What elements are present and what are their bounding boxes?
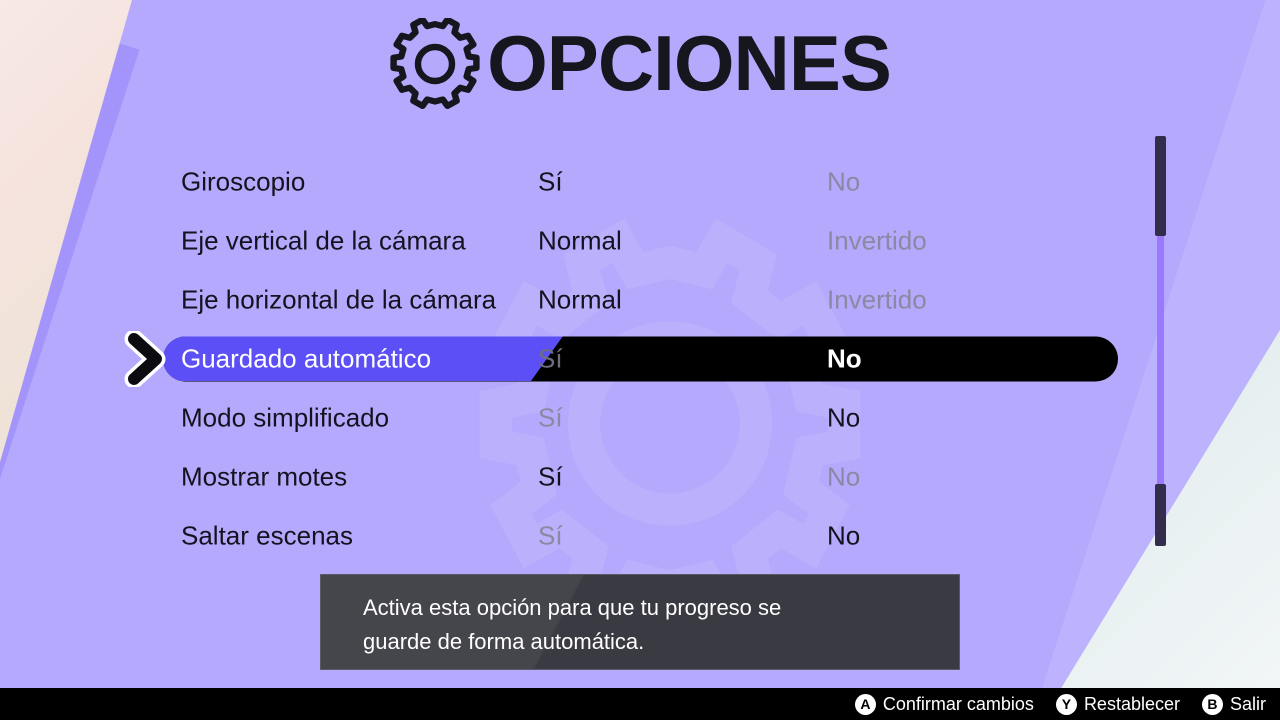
option-value-a[interactable]: Sí xyxy=(538,166,563,197)
option-value-a[interactable]: Sí xyxy=(538,461,563,492)
hint-reset[interactable]: Y Restablecer xyxy=(1056,694,1180,715)
option-row-mostrar-motes[interactable]: Mostrar motes Sí No xyxy=(0,447,1280,506)
option-description-box: Activa esta opción para que tu progreso … xyxy=(320,574,960,670)
option-label: Mostrar motes xyxy=(181,461,347,492)
option-value-a[interactable]: Normal xyxy=(538,225,622,256)
option-value-b[interactable]: No xyxy=(827,343,862,374)
option-label: Guardado automático xyxy=(181,343,431,374)
option-label: Modo simplificado xyxy=(181,402,389,433)
chevron-right-icon xyxy=(122,331,172,387)
option-value-a[interactable]: Sí xyxy=(538,343,563,374)
button-a-icon: A xyxy=(855,694,876,715)
hint-label: Salir xyxy=(1230,694,1266,715)
option-value-a[interactable]: Normal xyxy=(538,284,622,315)
option-value-b[interactable]: No xyxy=(827,461,860,492)
description-line-1: Activa esta opción para que tu progreso … xyxy=(363,591,921,625)
option-row-giroscopio[interactable]: Giroscopio Sí No xyxy=(0,152,1280,211)
option-value-b[interactable]: Invertido xyxy=(827,225,927,256)
page-title: OPCIONES xyxy=(0,16,1280,110)
option-row-eje-horizontal[interactable]: Eje horizontal de la cámara Normal Inver… xyxy=(0,270,1280,329)
option-value-a[interactable]: Sí xyxy=(538,520,563,551)
option-value-a[interactable]: Sí xyxy=(538,402,563,433)
option-value-b[interactable]: No xyxy=(827,166,860,197)
gear-icon xyxy=(389,18,481,110)
hint-label: Restablecer xyxy=(1084,694,1180,715)
options-screen: OPCIONES Giroscopio Sí No Eje vertical d… xyxy=(0,0,1280,720)
hint-label: Confirmar cambios xyxy=(883,694,1034,715)
option-label: Giroscopio xyxy=(181,166,305,197)
button-b-icon: B xyxy=(1202,694,1223,715)
option-row-guardado-automatico[interactable]: Guardado automático Sí No xyxy=(0,329,1280,388)
option-row-saltar-escenas[interactable]: Saltar escenas Sí No xyxy=(0,506,1280,565)
scrollbar-thumb-bottom[interactable] xyxy=(1155,484,1166,546)
option-row-eje-vertical[interactable]: Eje vertical de la cámara Normal Inverti… xyxy=(0,211,1280,270)
options-scrollbar[interactable] xyxy=(1155,136,1166,546)
button-y-icon: Y xyxy=(1056,694,1077,715)
option-value-b[interactable]: No xyxy=(827,520,860,551)
description-line-2: guarde de forma automática. xyxy=(363,625,921,659)
page-title-text: OPCIONES xyxy=(487,24,891,102)
option-value-b[interactable]: Invertido xyxy=(827,284,927,315)
option-label: Eje horizontal de la cámara xyxy=(181,284,496,315)
scrollbar-thumb-top[interactable] xyxy=(1155,136,1166,236)
hint-exit[interactable]: B Salir xyxy=(1202,694,1266,715)
options-list: Giroscopio Sí No Eje vertical de la cáma… xyxy=(0,152,1280,565)
option-value-b[interactable]: No xyxy=(827,402,860,433)
option-label: Eje vertical de la cámara xyxy=(181,225,466,256)
option-row-modo-simplificado[interactable]: Modo simplificado Sí No xyxy=(0,388,1280,447)
option-label: Saltar escenas xyxy=(181,520,353,551)
footer-hint-bar: A Confirmar cambios Y Restablecer B Sali… xyxy=(0,688,1280,720)
hint-confirm[interactable]: A Confirmar cambios xyxy=(855,694,1034,715)
